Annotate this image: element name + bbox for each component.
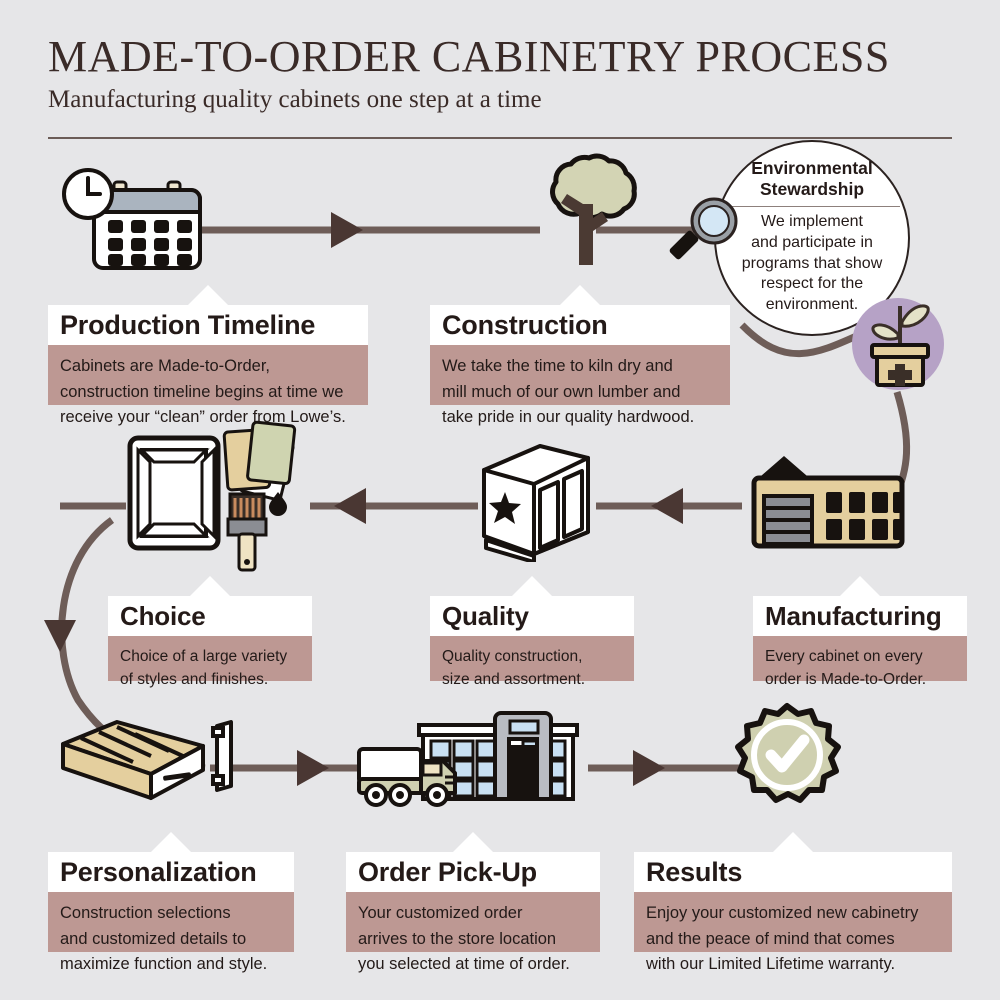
step-body: Cabinets are Made-to-Order, construction… xyxy=(48,345,368,405)
arrow-head-right xyxy=(297,750,329,786)
truck-store-icon xyxy=(355,705,595,813)
magnifier-icon xyxy=(665,190,747,272)
card-notch xyxy=(838,576,882,598)
step-title: Order Pick-Up xyxy=(358,852,592,892)
arrow-head-right xyxy=(633,750,665,786)
step-card-manufacturing[interactable]: Manufacturing Every cabinet on every ord… xyxy=(753,576,967,681)
callout-title: Environmental Stewardship xyxy=(726,158,898,199)
step-title: Choice xyxy=(120,596,304,636)
arrow-head-down xyxy=(44,620,76,652)
step-card-production-timeline[interactable]: Production Timeline Cabinets are Made-to… xyxy=(48,285,368,405)
cabinet-icon xyxy=(478,440,593,562)
step-body: Every cabinet on every order is Made-to-… xyxy=(753,636,967,681)
callout-divider xyxy=(724,206,900,207)
card-notch xyxy=(149,832,193,854)
step-title: Personalization xyxy=(60,852,286,892)
factory-icon xyxy=(742,452,917,557)
step-title: Construction xyxy=(442,305,722,345)
infographic-canvas: MADE-TO-ORDER CABINETRY PROCESS Manufact… xyxy=(0,0,1000,1000)
step-body: Your customized order arrives to the sto… xyxy=(346,892,600,952)
step-card-order-pickup[interactable]: Order Pick-Up Your customized order arri… xyxy=(346,832,600,952)
arrow-head-left xyxy=(651,488,683,524)
calendar-clock-icon xyxy=(58,160,208,270)
step-card-personalization[interactable]: Personalization Construction selections … xyxy=(48,832,294,952)
step-title: Production Timeline xyxy=(60,305,360,345)
arrow-head-right xyxy=(331,212,363,248)
step-body: Construction selections and customized d… xyxy=(48,892,294,952)
arrow-head-left xyxy=(334,488,366,524)
check-badge-icon xyxy=(722,700,852,825)
step-body: Enjoy your customized new cabinetry and … xyxy=(634,892,952,952)
step-body: Quality construction, size and assortmen… xyxy=(430,636,634,681)
card-notch xyxy=(771,832,815,854)
card-notch xyxy=(186,285,230,307)
step-title: Manufacturing xyxy=(765,596,959,636)
step-body: We take the time to kiln dry and mill mu… xyxy=(430,345,730,405)
card-notch xyxy=(558,285,602,307)
card-notch xyxy=(451,832,495,854)
step-title: Quality xyxy=(442,596,626,636)
step-card-choice[interactable]: Choice Choice of a large variety of styl… xyxy=(108,576,312,681)
step-card-quality[interactable]: Quality Quality construction, size and a… xyxy=(430,576,634,681)
step-body: Choice of a large variety of styles and … xyxy=(108,636,312,681)
card-notch xyxy=(510,576,554,598)
step-title: Results xyxy=(646,852,944,892)
step-card-construction[interactable]: Construction We take the time to kiln dr… xyxy=(430,285,730,405)
drawer-handle-icon xyxy=(55,712,250,812)
tree-icon xyxy=(525,150,655,275)
door-swatches-brush-icon xyxy=(126,420,306,572)
plant-pot-icon xyxy=(848,292,948,392)
card-notch xyxy=(188,576,232,598)
step-card-results[interactable]: Results Enjoy your customized new cabine… xyxy=(634,832,952,952)
